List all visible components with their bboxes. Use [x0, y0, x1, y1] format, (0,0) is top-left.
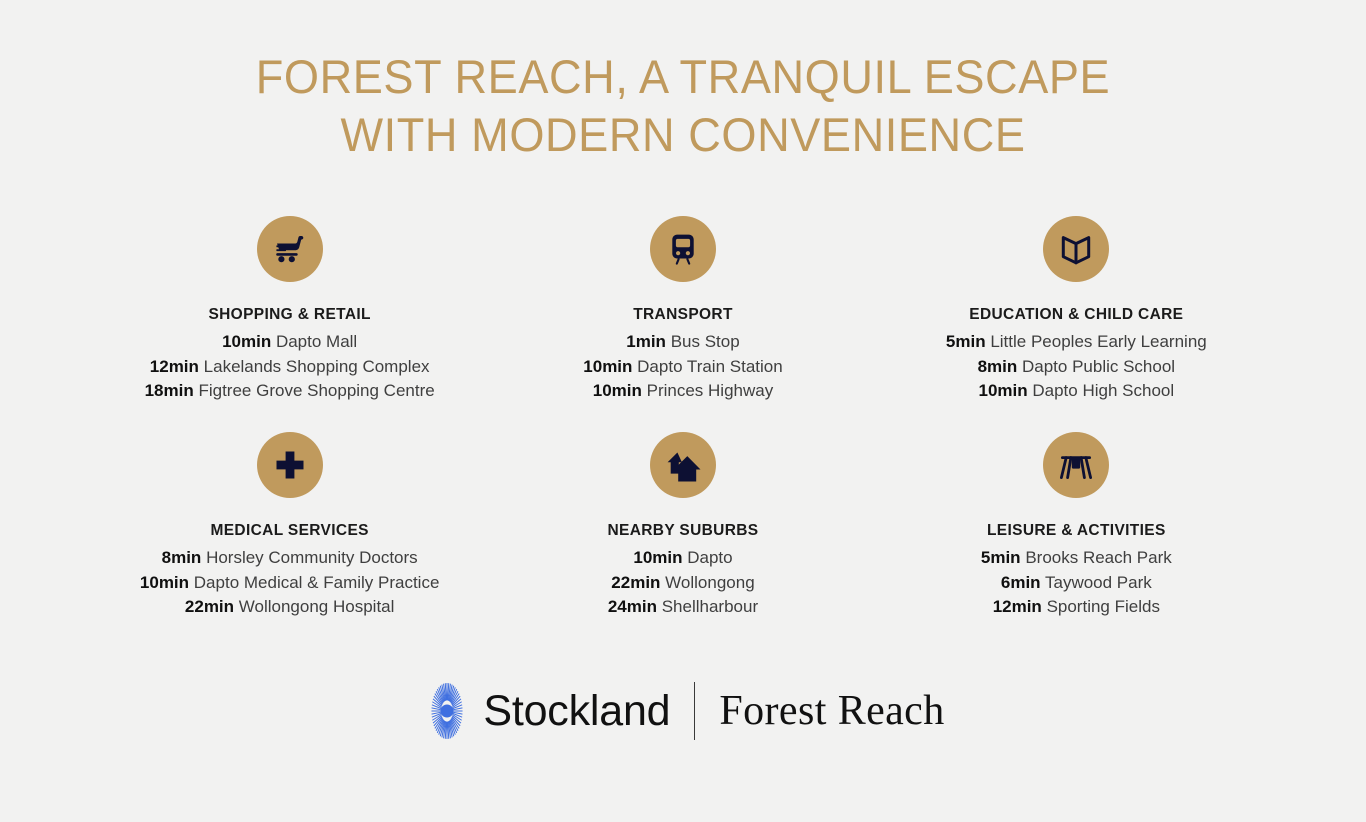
place-name: Dapto [687, 548, 732, 567]
travel-time: 10min [140, 573, 189, 592]
place-name: Figtree Grove Shopping Centre [198, 381, 434, 400]
travel-time: 12min [150, 357, 199, 376]
category-list: 5min Little Peoples Early Learning 8min … [946, 330, 1207, 404]
travel-time: 10min [222, 332, 271, 351]
list-item: 22min Wollongong Hospital [140, 595, 440, 620]
list-item: 22min Wollongong [608, 571, 758, 596]
category-leisure-activities: LEISURE & ACTIVITIES 5min Brooks Reach P… [880, 432, 1273, 648]
travel-time: 5min [946, 332, 986, 351]
list-item: 10min Princes Highway [583, 379, 782, 404]
list-item: 12min Sporting Fields [981, 595, 1172, 620]
place-name: Horsley Community Doctors [206, 548, 418, 567]
place-name: Wollongong Hospital [239, 597, 395, 616]
travel-time: 10min [979, 381, 1028, 400]
train-icon [650, 216, 716, 282]
travel-time: 8min [978, 357, 1018, 376]
place-name: Wollongong [665, 573, 754, 592]
list-item: 5min Brooks Reach Park [981, 546, 1172, 571]
page-title-line-1: FOREST REACH, A TRANQUIL ESCAPE [27, 48, 1338, 106]
list-item: 10min Dapto Mall [145, 330, 435, 355]
place-name: Dapto Public School [1022, 357, 1175, 376]
travel-time: 22min [611, 573, 660, 592]
place-name: Dapto Train Station [637, 357, 783, 376]
category-shopping-retail: SHOPPING & RETAIL 10min Dapto Mall 12min… [93, 216, 486, 432]
list-item: 10min Dapto High School [946, 379, 1207, 404]
travel-time: 18min [145, 381, 194, 400]
category-list: 10min Dapto 22min Wollongong 24min Shell… [608, 546, 758, 620]
place-name: Lakelands Shopping Complex [204, 357, 430, 376]
travel-time: 5min [981, 548, 1021, 567]
list-item: 10min Dapto Train Station [583, 355, 782, 380]
starburst-icon [421, 682, 473, 740]
list-item: 24min Shellharbour [608, 595, 758, 620]
list-item: 6min Taywood Park [981, 571, 1172, 596]
shopping-cart-icon [257, 216, 323, 282]
list-item: 10min Dapto [608, 546, 758, 571]
place-name: Dapto High School [1032, 381, 1174, 400]
houses-icon [650, 432, 716, 498]
logo-divider [694, 682, 695, 740]
category-list: 1min Bus Stop 10min Dapto Train Station … [583, 330, 782, 404]
list-item: 12min Lakelands Shopping Complex [145, 355, 435, 380]
swing-set-icon [1043, 432, 1109, 498]
category-list: 10min Dapto Mall 12min Lakelands Shoppin… [145, 330, 435, 404]
category-title: LEISURE & ACTIVITIES [987, 521, 1166, 541]
logo-lockup: Stockland Forest Reach [0, 682, 1366, 740]
category-list: 8min Horsley Community Doctors 10min Dap… [140, 546, 440, 620]
category-list: 5min Brooks Reach Park 6min Taywood Park… [981, 546, 1172, 620]
travel-time: 10min [633, 548, 682, 567]
open-book-icon [1043, 216, 1109, 282]
category-title: MEDICAL SERVICES [210, 521, 368, 541]
travel-time: 24min [608, 597, 657, 616]
category-education-child-care: EDUCATION & CHILD CARE 5min Little Peopl… [880, 216, 1273, 432]
category-title: SHOPPING & RETAIL [208, 305, 370, 325]
list-item: 1min Bus Stop [583, 330, 782, 355]
category-title: EDUCATION & CHILD CARE [969, 305, 1183, 325]
list-item: 8min Dapto Public School [946, 355, 1207, 380]
logo-wordmark: Stockland [483, 690, 670, 733]
page-title-line-2: WITH MODERN CONVENIENCE [27, 106, 1338, 164]
place-name: Shellharbour [662, 597, 758, 616]
category-title: TRANSPORT [633, 305, 733, 325]
travel-time: 6min [1001, 573, 1041, 592]
page-title: FOREST REACH, A TRANQUIL ESCAPE WITH MOD… [0, 48, 1366, 164]
category-nearby-suburbs: NEARBY SUBURBS 10min Dapto 22min Wollong… [486, 432, 879, 648]
list-item: 10min Dapto Medical & Family Practice [140, 571, 440, 596]
place-name: Brooks Reach Park [1025, 548, 1171, 567]
amenities-grid: SHOPPING & RETAIL 10min Dapto Mall 12min… [93, 216, 1273, 648]
place-name: Sporting Fields [1047, 597, 1160, 616]
travel-time: 8min [162, 548, 202, 567]
place-name: Bus Stop [671, 332, 740, 351]
place-name: Princes Highway [647, 381, 774, 400]
logo-subbrand: Forest Reach [719, 690, 944, 732]
medical-cross-icon [257, 432, 323, 498]
place-name: Little Peoples Early Learning [990, 332, 1206, 351]
place-name: Taywood Park [1045, 573, 1152, 592]
list-item: 5min Little Peoples Early Learning [946, 330, 1207, 355]
travel-time: 22min [185, 597, 234, 616]
category-medical-services: MEDICAL SERVICES 8min Horsley Community … [93, 432, 486, 648]
travel-time: 1min [626, 332, 666, 351]
list-item: 18min Figtree Grove Shopping Centre [145, 379, 435, 404]
category-transport: TRANSPORT 1min Bus Stop 10min Dapto Trai… [486, 216, 879, 432]
category-title: NEARBY SUBURBS [607, 521, 758, 541]
travel-time: 10min [593, 381, 642, 400]
list-item: 8min Horsley Community Doctors [140, 546, 440, 571]
travel-time: 10min [583, 357, 632, 376]
travel-time: 12min [993, 597, 1042, 616]
brochure-page: FOREST REACH, A TRANQUIL ESCAPE WITH MOD… [0, 0, 1366, 822]
place-name: Dapto Medical & Family Practice [194, 573, 440, 592]
place-name: Dapto Mall [276, 332, 357, 351]
